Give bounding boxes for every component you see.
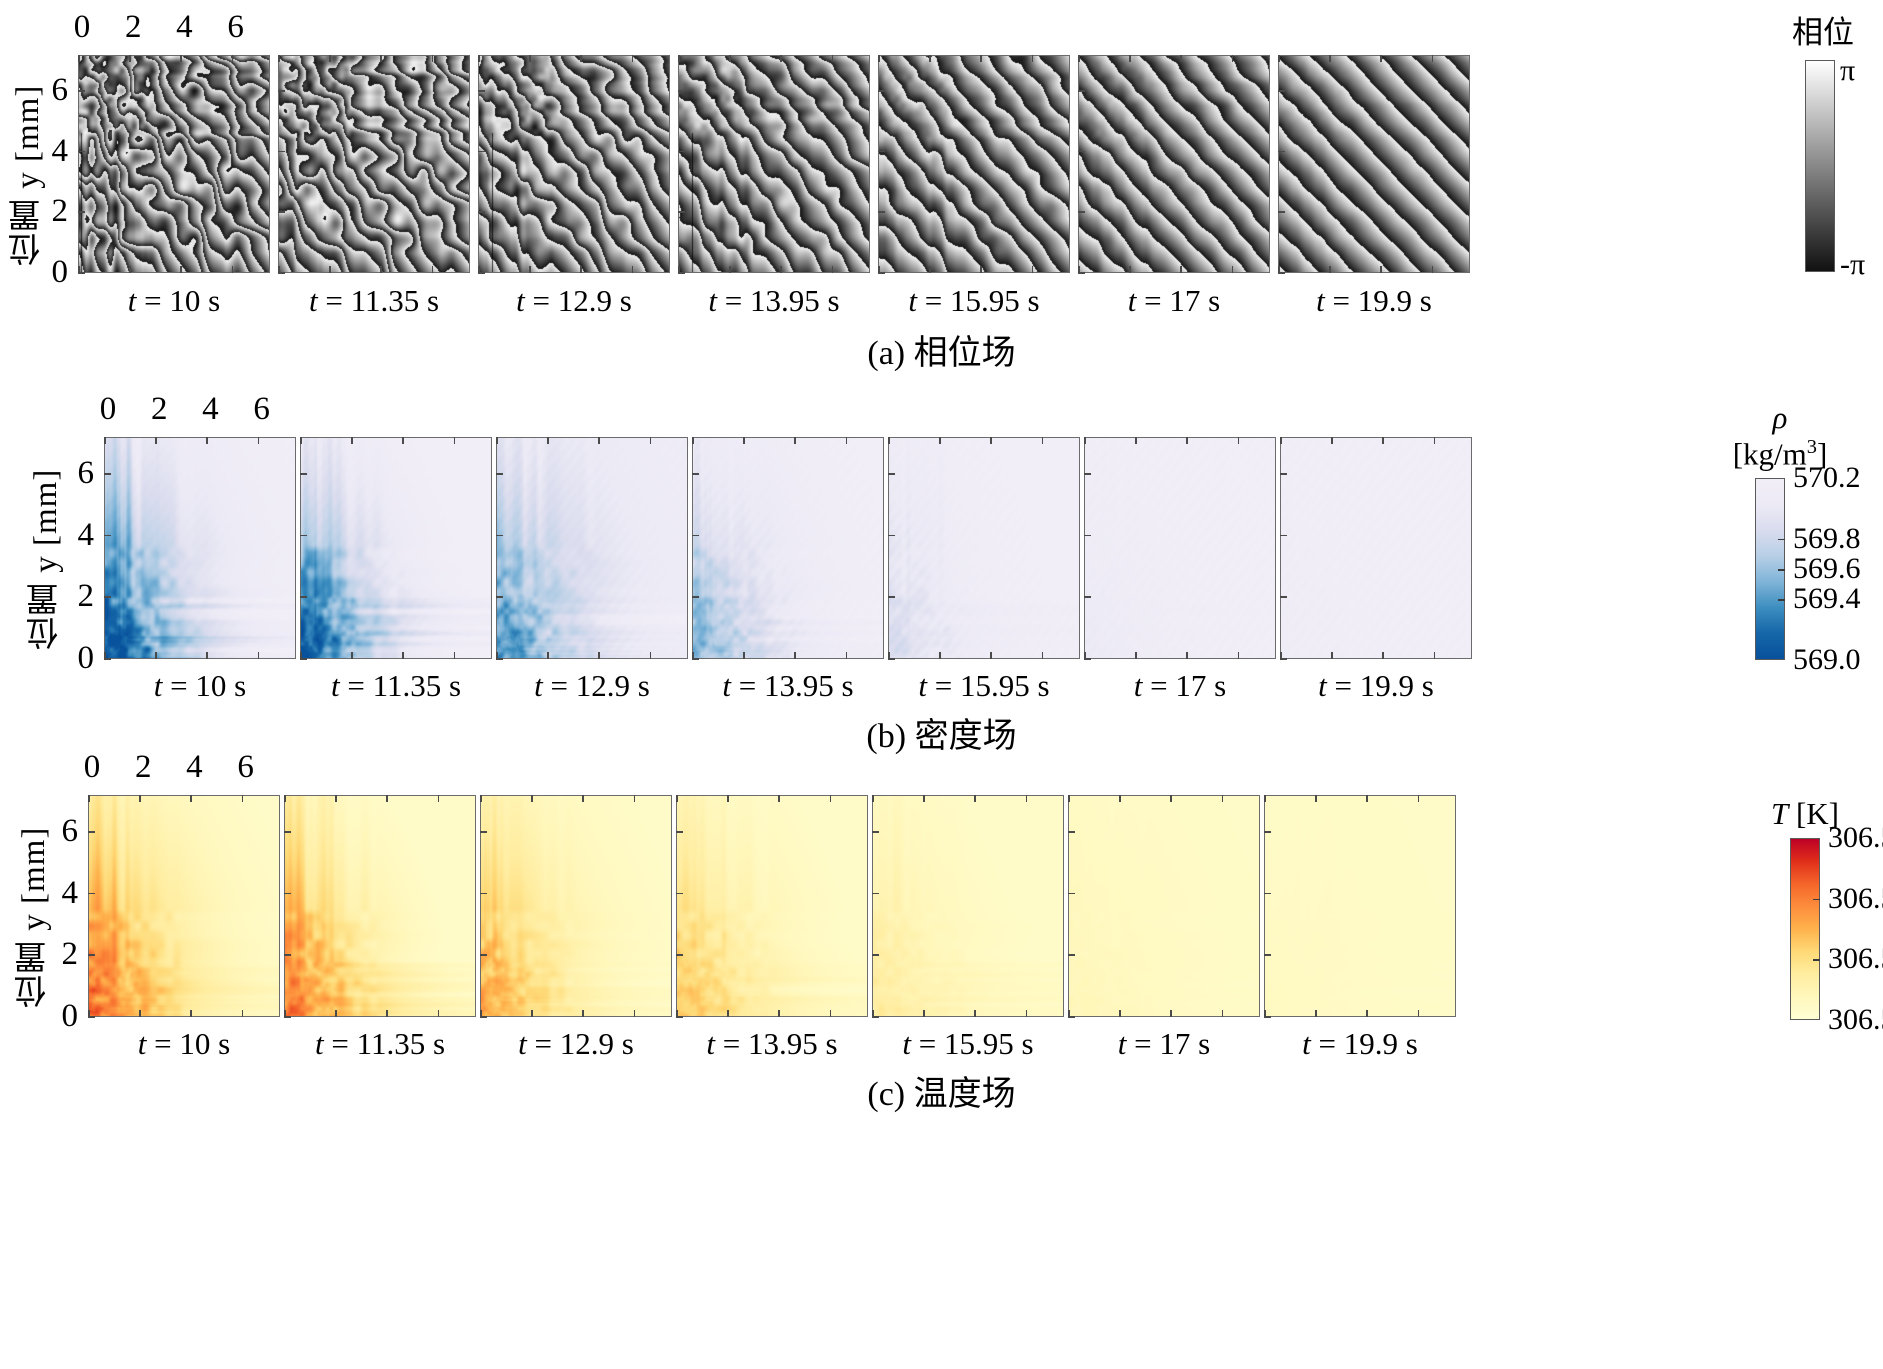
tick-left-b-3-6 [692,473,699,475]
tick-top-c-6-2 [1315,795,1317,802]
tick-top-b-3-4 [794,437,796,444]
y-tick-b-2: 2 [60,580,94,613]
tick-top-c-5-4 [1170,795,1172,802]
tick-left-b-5-2 [1084,596,1091,598]
tick-top-b-2-6 [650,437,652,444]
tick-left-b-0-2 [104,596,111,598]
panel-a-1 [278,55,470,273]
tick-top-b-2-4 [598,437,600,444]
tick-top-c-5-0 [1068,795,1070,802]
y-tick-b-6: 6 [60,457,94,490]
tick-bottom-b-4-2 [939,652,941,659]
tick-left-b-0-4 [104,535,111,537]
tick-top-c-2-6 [634,795,636,802]
time-label-c-6: t = 19.9 s [1230,1026,1490,1062]
field-image-b-5 [1085,438,1276,659]
tick-top-c-3-0 [676,795,678,802]
tick-top-b-6-0 [1280,437,1282,444]
tick-left-a-2-2 [478,211,485,213]
tick-top-b-1-6 [454,437,456,444]
tick-bottom-b-2-2 [547,652,549,659]
field-image-a-0 [79,56,270,273]
tick-left-c-5-2 [1068,954,1075,956]
tick-left-a-4-6 [878,90,885,92]
tick-bottom-c-1-6 [438,1010,440,1017]
tick-left-c-1-4 [284,893,291,895]
tick-bottom-a-5-6 [1232,266,1234,273]
tick-left-a-2-0 [478,272,485,274]
tick-left-c-0-0 [88,1016,95,1018]
panel-c-0 [88,795,280,1017]
tick-top-c-2-0 [480,795,482,802]
x-tick-a-2: 2 [116,11,150,44]
tick-bottom-a-6-4 [1380,266,1382,273]
tick-top-c-4-0 [872,795,874,802]
tick-bottom-b-0-4 [206,652,208,659]
tick-left-a-6-2 [1278,211,1285,213]
time-label-b-6: t = 19.9 s [1246,668,1506,704]
tick-bottom-b-6-2 [1331,652,1333,659]
tick-top-c-5-6 [1222,795,1224,802]
tick-bottom-a-4-2 [929,266,931,273]
tick-bottom-c-6-2 [1315,1010,1317,1017]
tick-bottom-b-5-4 [1186,652,1188,659]
tick-top-b-3-6 [846,437,848,444]
tick-left-c-2-4 [480,893,487,895]
tick-top-c-5-2 [1119,795,1121,802]
tick-left-b-4-6 [888,473,895,475]
tick-left-a-5-0 [1078,272,1085,274]
field-image-b-2 [497,438,688,659]
tick-top-b-6-2 [1331,437,1333,444]
x-tick-a-4: 4 [167,11,201,44]
tick-left-c-4-2 [872,954,879,956]
tick-left-b-1-6 [300,473,307,475]
tick-left-c-2-2 [480,954,487,956]
tick-top-c-2-4 [582,795,584,802]
tick-left-a-2-4 [478,151,485,153]
colorbar-tick-temperature-1: 306.585 [1828,884,1883,914]
tick-bottom-b-1-6 [454,652,456,659]
tick-top-b-4-2 [939,437,941,444]
tick-bottom-a-0-6 [232,266,234,273]
x-tick-a-6: 6 [219,11,253,44]
x-tick-b-4: 4 [193,393,227,426]
tick-top-c-3-4 [778,795,780,802]
tick-left-a-3-4 [678,151,685,153]
field-image-b-6 [1281,438,1472,659]
tick-bottom-a-1-4 [380,266,382,273]
tick-left-a-4-2 [878,211,885,213]
tick-left-b-0-6 [104,473,111,475]
tick-top-b-1-2 [351,437,353,444]
panel-c-4 [872,795,1064,1017]
tick-bottom-c-6-6 [1418,1010,1420,1017]
tick-bottom-c-5-2 [1119,1010,1121,1017]
tick-left-b-6-2 [1280,596,1287,598]
tick-left-c-0-6 [88,831,95,833]
tick-top-b-6-6 [1434,437,1436,444]
tick-left-b-2-4 [496,535,503,537]
tick-bottom-a-6-2 [1329,266,1331,273]
tick-left-c-6-4 [1264,893,1271,895]
tick-bottom-c-3-2 [727,1010,729,1017]
field-image-a-5 [1079,56,1270,273]
field-image-c-5 [1069,796,1260,1017]
x-tick-c-4: 4 [177,751,211,784]
tick-top-b-5-0 [1084,437,1086,444]
x-tick-b-6: 6 [245,393,279,426]
panel-b-2 [496,437,688,659]
panel-c-6 [1264,795,1456,1017]
tick-left-a-6-6 [1278,90,1285,92]
field-image-c-1 [285,796,476,1017]
tick-left-b-5-6 [1084,473,1091,475]
tick-left-b-6-0 [1280,658,1287,660]
tick-left-c-5-4 [1068,893,1075,895]
tick-top-a-1-0 [278,55,280,62]
tick-bottom-b-1-2 [351,652,353,659]
panel-b-4 [888,437,1080,659]
field-image-c-2 [481,796,672,1017]
tick-top-a-5-0 [1078,55,1080,62]
tick-top-a-5-6 [1232,55,1234,62]
panel-c-3 [676,795,868,1017]
panel-b-1 [300,437,492,659]
tick-bottom-a-1-2 [329,266,331,273]
tick-left-a-1-2 [278,211,285,213]
tick-left-c-3-4 [676,893,683,895]
field-image-b-1 [301,438,492,659]
tick-left-a-3-2 [678,211,685,213]
tick-top-a-4-6 [1032,55,1034,62]
colorbar-tick-temperature-2: 306.580 [1828,944,1883,974]
tick-top-a-4-0 [878,55,880,62]
tick-bottom-b-3-2 [743,652,745,659]
tick-top-a-0-2 [129,55,131,62]
tick-bottom-b-4-6 [1042,652,1044,659]
colorbar-tick-density-1: 569.8 [1793,524,1861,554]
tick-left-a-0-0 [78,272,85,274]
tick-left-a-5-2 [1078,211,1085,213]
tick-top-b-1-4 [402,437,404,444]
tick-top-a-5-4 [1180,55,1182,62]
tick-left-c-0-4 [88,893,95,895]
tick-top-a-2-0 [478,55,480,62]
tick-bottom-c-0-4 [190,1010,192,1017]
tick-top-c-0-6 [242,795,244,802]
tick-bottom-a-2-4 [580,266,582,273]
tick-top-c-3-2 [727,795,729,802]
tick-left-a-4-4 [878,151,885,153]
tick-left-b-1-4 [300,535,307,537]
density-symbol: ρ [1773,400,1788,435]
x-tick-b-0: 0 [91,393,125,426]
tick-top-a-1-6 [432,55,434,62]
tick-bottom-b-5-6 [1238,652,1240,659]
y-tick-c-2: 2 [44,938,78,971]
tick-bottom-c-1-2 [335,1010,337,1017]
field-image-a-2 [479,56,670,273]
field-image-a-1 [279,56,470,273]
tick-bottom-c-4-4 [974,1010,976,1017]
colorbar-tick-density-2: 569.6 [1793,554,1861,584]
tick-left-a-0-6 [78,90,85,92]
y-tick-c-6: 6 [44,815,78,848]
tick-left-c-1-2 [284,954,291,956]
field-image-c-0 [89,796,280,1017]
tick-left-c-3-6 [676,831,683,833]
tick-top-b-5-4 [1186,437,1188,444]
tick-top-b-0-4 [206,437,208,444]
tick-left-b-4-0 [888,658,895,660]
tick-left-c-1-0 [284,1016,291,1018]
tick-bottom-c-3-6 [830,1010,832,1017]
tick-left-c-4-6 [872,831,879,833]
tick-left-b-2-2 [496,596,503,598]
tick-left-a-2-6 [478,90,485,92]
tick-top-a-6-4 [1380,55,1382,62]
tick-bottom-b-2-6 [650,652,652,659]
field-image-b-3 [693,438,884,659]
tick-top-c-0-0 [88,795,90,802]
tick-left-a-6-4 [1278,151,1285,153]
tick-top-b-2-0 [496,437,498,444]
tick-top-b-3-0 [692,437,694,444]
tick-bottom-c-2-4 [582,1010,584,1017]
tick-left-c-6-2 [1264,954,1271,956]
tick-left-c-4-4 [872,893,879,895]
tick-bottom-a-2-2 [529,266,531,273]
colorbar-tick-temperature-3: 306.575 [1828,1005,1883,1035]
tick-bottom-a-1-6 [432,266,434,273]
tick-bottom-a-3-6 [832,266,834,273]
colorbar-title-phase: 相位 [1783,15,1863,51]
colorbar-tick-density-0: 570.2 [1793,463,1861,493]
tick-bottom-a-0-2 [129,266,131,273]
y-tick-c-4: 4 [44,877,78,910]
tick-left-b-6-4 [1280,535,1287,537]
tick-bottom-a-5-2 [1129,266,1131,273]
tick-top-b-0-2 [155,437,157,444]
tick-top-a-0-4 [180,55,182,62]
y-tick-a-6: 6 [34,74,68,107]
tick-bottom-a-4-4 [980,266,982,273]
x-tick-c-0: 0 [75,751,109,784]
tick-bottom-c-4-2 [923,1010,925,1017]
tick-left-c-4-0 [872,1016,879,1018]
tick-top-c-1-2 [335,795,337,802]
tick-top-b-2-2 [547,437,549,444]
tick-top-b-4-0 [888,437,890,444]
panel-c-2 [480,795,672,1017]
tick-left-a-1-4 [278,151,285,153]
tick-left-b-4-2 [888,596,895,598]
x-tick-b-2: 2 [142,393,176,426]
tick-top-a-5-2 [1129,55,1131,62]
y-tick-a-2: 2 [34,195,68,228]
tick-top-a-0-0 [78,55,80,62]
panel-a-6 [1278,55,1470,273]
x-tick-a-0: 0 [65,11,99,44]
tick-bottom-c-5-4 [1170,1010,1172,1017]
tick-bottom-a-4-6 [1032,266,1034,273]
field-image-b-4 [889,438,1080,659]
tick-top-c-1-4 [386,795,388,802]
colorbar-notch-density-2 [1778,569,1785,571]
tick-top-c-4-6 [1026,795,1028,802]
tick-left-a-3-6 [678,90,685,92]
tick-left-b-4-4 [888,535,895,537]
tick-left-b-3-2 [692,596,699,598]
tick-bottom-a-6-6 [1432,266,1434,273]
tick-top-b-4-4 [990,437,992,444]
tick-left-a-6-0 [1278,272,1285,274]
tick-top-b-5-2 [1135,437,1137,444]
colorbar-phase[interactable] [1805,60,1835,272]
panel-a-5 [1078,55,1270,273]
tick-left-b-2-6 [496,473,503,475]
tick-top-c-3-6 [830,795,832,802]
tick-top-a-3-0 [678,55,680,62]
tick-left-c-6-0 [1264,1016,1271,1018]
tick-left-a-5-4 [1078,151,1085,153]
colorbar-tick-phase-bottom: -π [1840,250,1865,280]
tick-left-b-2-0 [496,658,503,660]
panel-a-2 [478,55,670,273]
y-tick-b-4: 4 [60,519,94,552]
field-image-a-6 [1279,56,1470,273]
tick-bottom-a-5-4 [1180,266,1182,273]
colorbar-tick-phase-top: π [1840,56,1855,86]
tick-left-c-2-6 [480,831,487,833]
tick-top-b-3-2 [743,437,745,444]
tick-top-c-6-4 [1366,795,1368,802]
figure-root: 位置 y [mm]02460246t = 10 st = 11.35 st = … [0,0,1883,1369]
tick-bottom-c-5-6 [1222,1010,1224,1017]
tick-top-a-1-4 [380,55,382,62]
tick-top-c-6-0 [1264,795,1266,802]
tick-top-a-0-6 [232,55,234,62]
tick-top-b-6-4 [1382,437,1384,444]
tick-bottom-b-6-6 [1434,652,1436,659]
tick-left-b-5-4 [1084,535,1091,537]
panel-a-4 [878,55,1070,273]
tick-top-a-3-4 [780,55,782,62]
tick-left-b-0-0 [104,658,111,660]
tick-left-c-5-0 [1068,1016,1075,1018]
colorbar-tick-temperature-0: 306.590 [1828,823,1883,853]
tick-bottom-b-4-4 [990,652,992,659]
tick-top-b-1-0 [300,437,302,444]
tick-bottom-c-0-2 [139,1010,141,1017]
tick-left-b-1-0 [300,658,307,660]
tick-left-a-0-4 [78,151,85,153]
tick-top-a-2-4 [580,55,582,62]
panel-b-3 [692,437,884,659]
tick-left-c-6-6 [1264,831,1271,833]
tick-left-c-0-2 [88,954,95,956]
tick-left-a-5-6 [1078,90,1085,92]
field-image-c-6 [1265,796,1456,1017]
colorbar-notch-density-1 [1778,539,1785,541]
colorbar-tick-density-4: 569.0 [1793,645,1861,675]
tick-top-b-0-0 [104,437,106,444]
field-image-a-3 [679,56,870,273]
tick-bottom-c-4-6 [1026,1010,1028,1017]
panel-a-3 [678,55,870,273]
tick-left-c-3-0 [676,1016,683,1018]
tick-bottom-a-3-2 [729,266,731,273]
x-tick-c-2: 2 [126,751,160,784]
colorbar-notch-temperature-1 [1813,899,1820,901]
tick-top-c-1-0 [284,795,286,802]
tick-left-b-1-2 [300,596,307,598]
tick-top-a-2-6 [632,55,634,62]
tick-bottom-c-0-6 [242,1010,244,1017]
colorbar-temperature[interactable] [1790,838,1820,1020]
tick-left-b-3-0 [692,658,699,660]
tick-bottom-c-3-4 [778,1010,780,1017]
tick-left-a-1-6 [278,90,285,92]
x-tick-c-6: 6 [229,751,263,784]
tick-top-c-0-4 [190,795,192,802]
tick-bottom-b-3-6 [846,652,848,659]
tick-top-a-6-0 [1278,55,1280,62]
tick-bottom-b-2-4 [598,652,600,659]
panel-b-6 [1280,437,1472,659]
tick-top-a-2-2 [529,55,531,62]
tick-top-a-4-2 [929,55,931,62]
tick-left-c-3-2 [676,954,683,956]
tick-bottom-b-0-2 [155,652,157,659]
tick-bottom-c-2-6 [634,1010,636,1017]
colorbar-notch-density-3 [1778,599,1785,601]
time-label-a-6: t = 19.9 s [1244,283,1504,319]
tick-top-c-4-2 [923,795,925,802]
tick-top-a-6-6 [1432,55,1434,62]
tick-top-c-2-2 [531,795,533,802]
tick-top-a-3-2 [729,55,731,62]
tick-left-a-1-0 [278,272,285,274]
subfigure-caption-b: (b) 密度场 [0,708,1883,757]
panel-c-5 [1068,795,1260,1017]
tick-top-c-6-6 [1418,795,1420,802]
tick-left-b-5-0 [1084,658,1091,660]
colorbar-tick-density-3: 569.4 [1793,584,1861,614]
tick-top-a-3-6 [832,55,834,62]
tick-left-c-5-6 [1068,831,1075,833]
tick-left-c-2-0 [480,1016,487,1018]
tick-top-b-4-6 [1042,437,1044,444]
y-tick-a-4: 4 [34,135,68,168]
tick-top-c-0-2 [139,795,141,802]
panel-b-0 [104,437,296,659]
tick-bottom-b-1-4 [402,652,404,659]
tick-top-c-4-4 [974,795,976,802]
field-image-a-4 [879,56,1070,273]
tick-bottom-a-0-4 [180,266,182,273]
tick-left-b-6-6 [1280,473,1287,475]
tick-bottom-b-6-4 [1382,652,1384,659]
field-image-b-0 [105,438,296,659]
tick-top-c-1-6 [438,795,440,802]
subfigure-caption-c: (c) 温度场 [0,1066,1883,1115]
tick-left-a-3-0 [678,272,685,274]
panel-a-0 [78,55,270,273]
tick-bottom-c-1-4 [386,1010,388,1017]
tick-bottom-a-3-4 [780,266,782,273]
